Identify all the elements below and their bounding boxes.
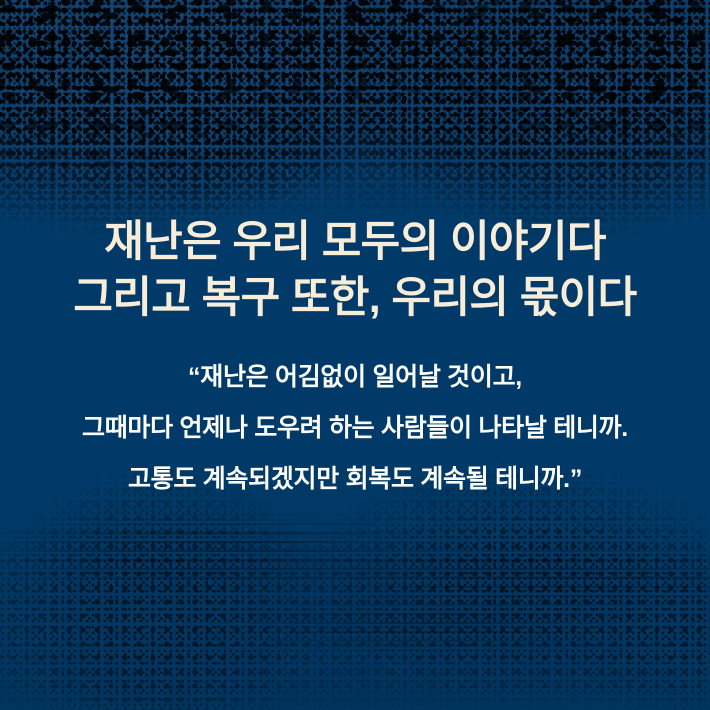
card-content: 재난은 우리 모두의 이야기다 그리고 복구 또한, 우리의 몫이다 “재난은 … <box>0 0 710 710</box>
quote-line-1: “재난은 어김없이 일어날 것이고, <box>0 352 710 403</box>
quote-line-3: 고통도 계속되겠지만 회복도 계속될 테니까.” <box>0 454 710 505</box>
headline-line-2: 그리고 복구 또한, 우리의 몫이다 <box>0 270 710 326</box>
quote-line-2: 그때마다 언제나 도우려 하는 사람들이 나타날 테니까. <box>0 403 710 454</box>
headline-line-1: 재난은 우리 모두의 이야기다 <box>0 214 710 270</box>
social-card: 재난은 우리 모두의 이야기다 그리고 복구 또한, 우리의 몫이다 “재난은 … <box>0 0 710 710</box>
headline: 재난은 우리 모두의 이야기다 그리고 복구 또한, 우리의 몫이다 <box>0 214 710 326</box>
quote-block: “재난은 어김없이 일어날 것이고, 그때마다 언제나 도우려 하는 사람들이 … <box>0 352 710 505</box>
